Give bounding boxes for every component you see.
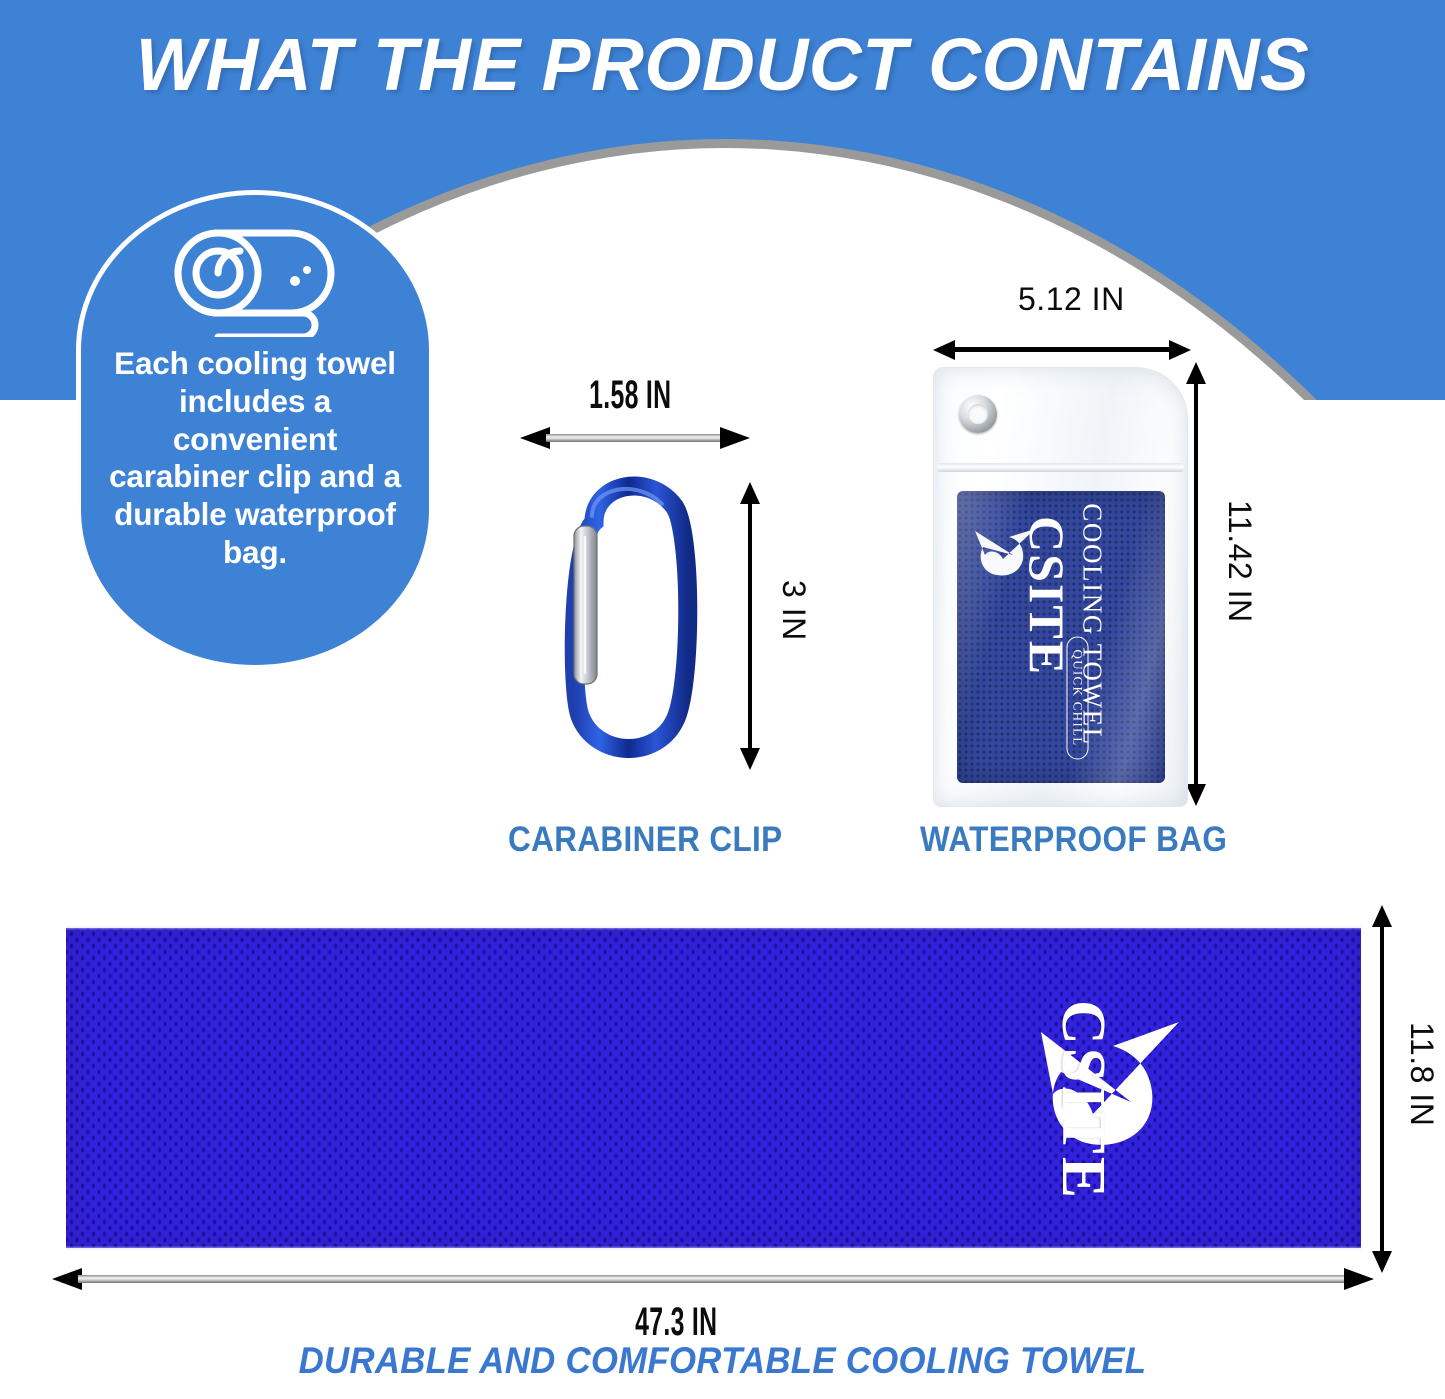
carabiner-height-label: 3 IN (775, 580, 812, 641)
rolled-towel-icon (171, 221, 339, 337)
page-title: WHAT THE PRODUCT CONTAINS (7, 26, 1438, 104)
bottom-caption: DURABLE AND COMFORTABLE COOLING TOWEL (43, 1340, 1401, 1382)
waterproof-bag-image: CSITE COOLING TOWEL QUICK CHILL (933, 367, 1188, 807)
info-pill-text: Each cooling towel includes a convenient… (105, 345, 405, 572)
info-pill-badge: Each cooling towel includes a convenient… (76, 190, 434, 670)
bag-zip-seal (937, 463, 1184, 472)
carabiner-clip-image (540, 470, 720, 770)
carabiner-height-arrow (740, 482, 760, 770)
towel-top-edge (66, 925, 1361, 930)
bag-inner-towel: CSITE COOLING TOWEL QUICK CHILL (957, 491, 1165, 783)
carabiner-width-arrow (520, 427, 750, 449)
bag-caption: WATERPROOF BAG (920, 820, 1227, 860)
bag-height-label: 11.42 IN (1221, 500, 1258, 623)
towel-width-arrow (52, 1268, 1374, 1290)
bag-width-arrow (933, 340, 1191, 360)
carabiner-caption: CARABINER CLIP (508, 820, 783, 860)
towel-brand-text: CSITE (1047, 1000, 1118, 1200)
towel-bottom-edge (66, 1246, 1361, 1251)
bag-towel-badge: QUICK CHILL (1067, 637, 1089, 760)
bag-height-arrow (1186, 362, 1206, 806)
towel-width-label: 47.3 IN (635, 1300, 717, 1345)
bag-grommet-icon (959, 395, 997, 433)
bag-width-label: 5.12 IN (1018, 281, 1125, 318)
towel-height-label: 11.8 IN (1403, 1022, 1440, 1126)
towel-height-arrow (1372, 905, 1392, 1273)
carabiner-width-label: 1.58 IN (589, 373, 671, 418)
product-infographic: WHAT THE PRODUCT CONTAINS Each cooling t… (0, 0, 1445, 1399)
